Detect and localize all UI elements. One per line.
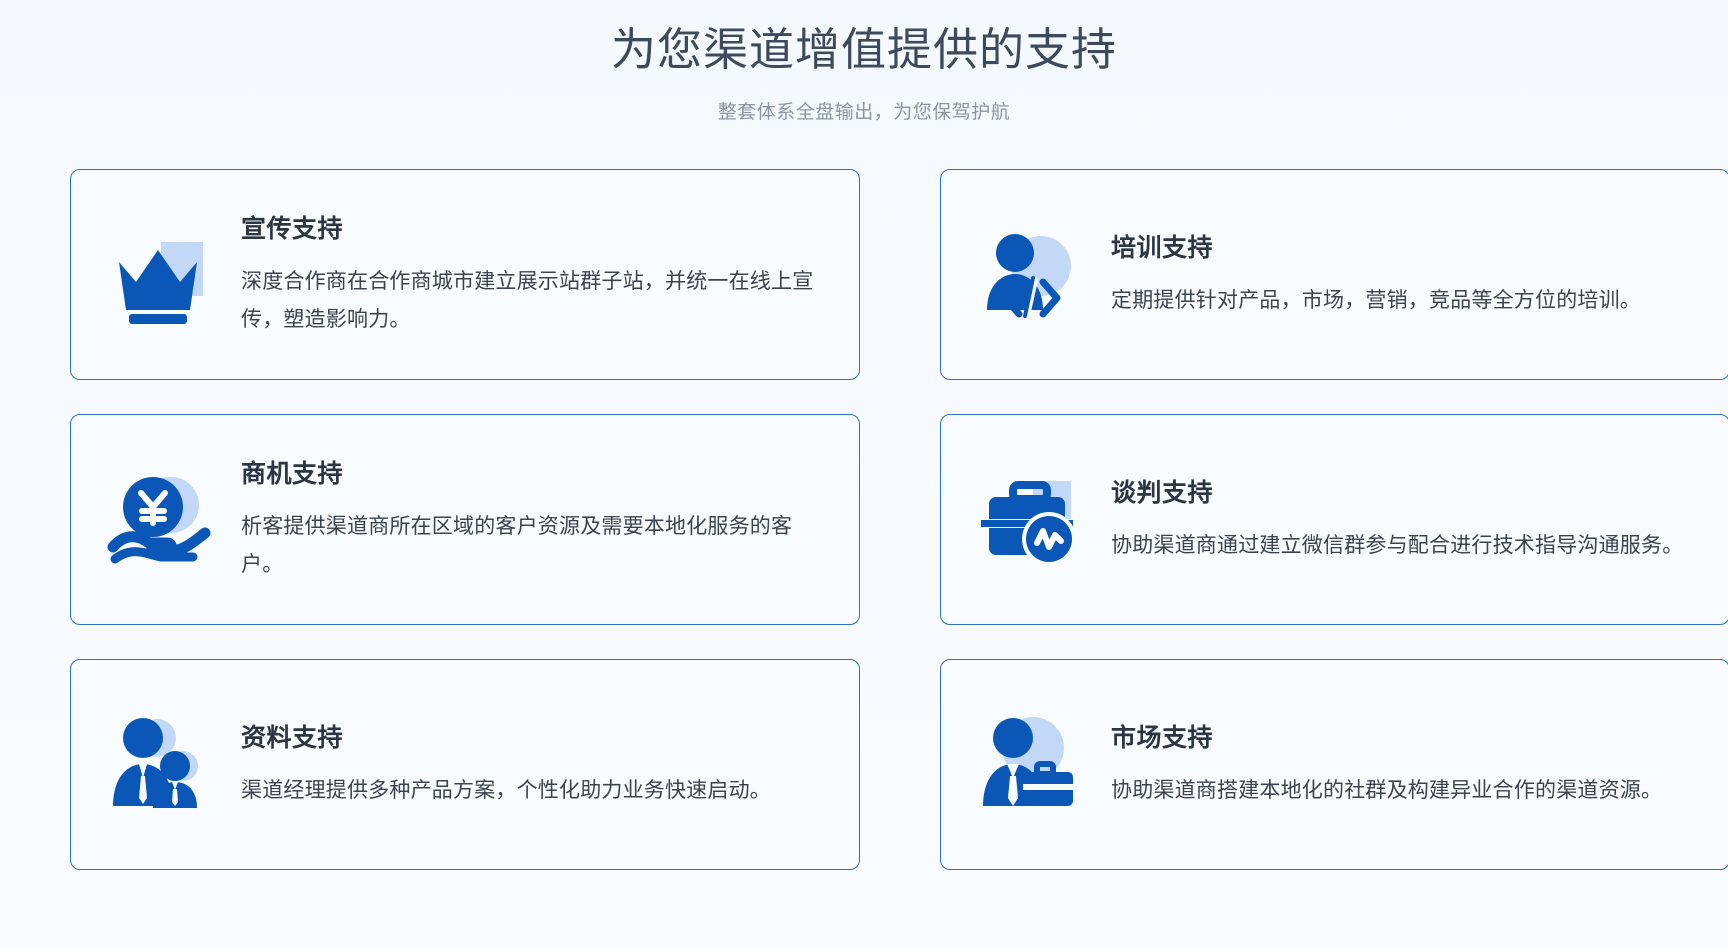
support-card-negotiation[interactable]: 谈判支持 协助渠道商通过建立微信群参与配合进行技术指导沟通服务。: [940, 414, 1728, 625]
card-description: 渠道经理提供多种产品方案，个性化助力业务快速启动。: [241, 772, 827, 811]
briefcase-chart-icon: [971, 459, 1091, 579]
card-title: 培训支持: [1111, 228, 1697, 264]
support-card-publicity[interactable]: 宣传支持 深度合作商在合作商城市建立展示站群子站，并统一在线上宣传，塑造影响力。: [70, 169, 860, 380]
support-cards-grid: 宣传支持 深度合作商在合作商城市建立展示站群子站，并统一在线上宣传，塑造影响力。…: [34, 169, 1694, 870]
card-description: 协助渠道商通过建立微信群参与配合进行技术指导沟通服务。: [1111, 527, 1691, 566]
card-description: 定期提供针对产品，市场，营销，竞品等全方位的培训。: [1111, 282, 1691, 321]
support-page: 为您渠道增值提供的支持 整套体系全盘输出，为您保驾护航 宣传支持 深度合作商在合…: [0, 0, 1728, 948]
card-description: 析客提供渠道商所在区域的客户资源及需要本地化服务的客户。: [241, 508, 821, 586]
person-code-icon: [971, 214, 1091, 334]
support-card-materials[interactable]: 资料支持 渠道经理提供多种产品方案，个性化助力业务快速启动。: [70, 659, 860, 870]
card-body: 商机支持 析客提供渠道商所在区域的客户资源及需要本地化服务的客户。: [221, 454, 833, 586]
card-title: 资料支持: [241, 718, 827, 754]
card-body: 谈判支持 协助渠道商通过建立微信群参与配合进行技术指导沟通服务。: [1091, 473, 1703, 566]
businessman-briefcase-icon: [971, 704, 1091, 824]
crown-icon: [101, 214, 221, 334]
card-body: 培训支持 定期提供针对产品，市场，营销，竞品等全方位的培训。: [1091, 228, 1703, 321]
card-body: 宣传支持 深度合作商在合作商城市建立展示站群子站，并统一在线上宣传，塑造影响力。: [221, 209, 833, 341]
card-body: 市场支持 协助渠道商搭建本地化的社群及构建异业合作的渠道资源。: [1091, 718, 1703, 811]
card-body: 资料支持 渠道经理提供多种产品方案，个性化助力业务快速启动。: [221, 718, 833, 811]
page-title: 为您渠道增值提供的支持: [0, 22, 1728, 78]
two-people-icon: [101, 704, 221, 824]
card-title: 商机支持: [241, 454, 827, 490]
page-header: 为您渠道增值提供的支持 整套体系全盘输出，为您保驾护航: [0, 0, 1728, 127]
hand-money-icon: [101, 459, 221, 579]
support-card-business-opportunity[interactable]: 商机支持 析客提供渠道商所在区域的客户资源及需要本地化服务的客户。: [70, 414, 860, 625]
card-title: 市场支持: [1111, 718, 1697, 754]
page-subtitle: 整套体系全盘输出，为您保驾护航: [0, 100, 1728, 127]
card-title: 谈判支持: [1111, 473, 1697, 509]
support-card-market[interactable]: 市场支持 协助渠道商搭建本地化的社群及构建异业合作的渠道资源。: [940, 659, 1728, 870]
support-card-training[interactable]: 培训支持 定期提供针对产品，市场，营销，竞品等全方位的培训。: [940, 169, 1728, 380]
card-description: 协助渠道商搭建本地化的社群及构建异业合作的渠道资源。: [1111, 772, 1691, 811]
card-title: 宣传支持: [241, 209, 827, 245]
card-description: 深度合作商在合作商城市建立展示站群子站，并统一在线上宣传，塑造影响力。: [241, 263, 821, 341]
